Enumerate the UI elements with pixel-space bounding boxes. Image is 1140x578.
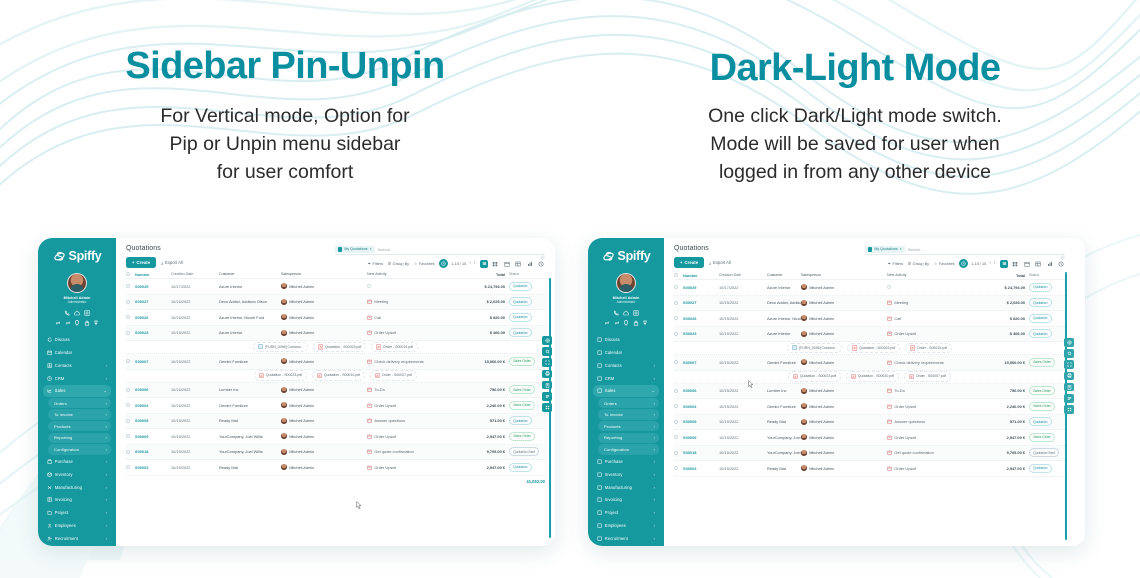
row-checkbox[interactable] [674,420,683,424]
panel-dark-light-mode: Dark-Light Mode One click Dark/Light mod… [570,0,1140,230]
grid-icon[interactable] [633,310,639,316]
inventory-icon [47,472,52,477]
sidebar-item-employees[interactable]: Employees› [43,520,111,532]
attachment-chip[interactable]: Order - S00019.pdf [371,342,418,353]
list-fab-icon[interactable] [542,392,552,401]
cell-number: S00004 [683,404,719,409]
select-all-checkbox[interactable] [126,272,135,276]
lock-icon[interactable] [633,320,639,326]
attachment-chip-label: [FURN_0096] Customi... [265,345,303,349]
checkbox-ring [674,466,678,470]
close-icon[interactable]: × [900,247,902,251]
sidebar-item-reporting[interactable]: Reporting› [48,433,111,443]
favorites-button[interactable]: ☆Favorites [934,261,955,266]
sidebar-item-invoicing[interactable]: Invoicing› [43,494,111,506]
list-view-icon[interactable] [1000,260,1008,268]
table-row-attachments[interactable]: Quotation - S00023.pdfQuotation - S00010… [674,371,1065,384]
grid-icon[interactable] [84,310,90,316]
upsell-icon [367,465,372,470]
kanban-view-icon[interactable] [491,260,499,268]
table-row[interactable]: S0000510/15/2022Ready MatMitchell AdminA… [126,414,545,430]
activity-view-icon[interactable] [537,260,545,268]
plus-icon: + [132,260,135,265]
column-header-salesperson[interactable]: Salesperson [281,272,367,276]
next-activity-label: Check delivery requirements [894,360,943,365]
checkbox-ring [674,332,678,336]
create-button[interactable]: + Create [126,257,156,268]
cell-creation-date: 10/15/2022 [171,387,219,392]
sidebar-item-reporting[interactable]: Reporting› [598,433,659,443]
sidebar-item-label: Discuss [605,337,655,342]
search-input[interactable]: Search... [908,247,924,252]
column-header-next-activity[interactable]: Next Activity [367,272,459,276]
cell-total: $ 24,794.00 [459,284,505,289]
pager-next-button[interactable]: › [994,261,996,266]
cell-creation-date: 10/17/2022 [719,285,767,290]
favorites-button[interactable]: ☆Favorites [414,261,435,266]
home-icon[interactable] [74,310,80,316]
spiffy-logo-icon [53,250,66,263]
attachment-chip-label: Quotation - S00023.pdf [266,373,302,377]
column-header-total[interactable]: Total [459,272,505,277]
table-row[interactable]: S0001810/15/2022YourCompany, Joel Willis… [126,445,545,461]
close-icon[interactable]: × [370,247,372,251]
graph-view-icon[interactable] [526,260,534,268]
table-row[interactable]: S0000610/15/2022Lumber IncMitchell Admin… [674,384,1065,400]
pin-icon[interactable] [642,320,648,326]
table-row[interactable]: S0002310/15/2022Azure InteriorMitchell A… [126,326,545,342]
checkbox-ring [126,272,130,276]
panel-sidebar-pin-unpin: Sidebar Pin-Unpin For Vertical mode, Opt… [0,0,570,230]
table-row[interactable]: S0002910/17/2022Azure InteriorMitchell A… [674,280,1065,296]
sidebar-item-products[interactable]: Products› [48,421,111,431]
row-checkbox[interactable] [674,435,683,439]
attachment-chip[interactable]: [FURN_0096] Customi... [253,342,308,353]
table-row[interactable]: S0000910/15/2022YourCompany, Joel Willis… [126,429,545,445]
grid-fab-icon[interactable] [542,403,552,412]
cell-next-activity: Check delivery requirements [367,359,459,364]
note-fab-icon[interactable] [542,381,552,390]
link-icon[interactable] [65,320,71,326]
row-checkbox[interactable] [126,465,135,469]
sidebar-item-crm[interactable]: CRM› [43,372,111,384]
search-facet-my-quotations[interactable]: My Quotations × [865,246,905,254]
cell-status: Quotation [1025,298,1065,307]
cell-next-activity: Order Upsell [367,465,459,470]
sidebar-item-products[interactable]: Products› [598,421,659,431]
row-checkbox[interactable] [674,404,683,408]
app-window: Spiffy Mitchell Admin Administrator [588,238,1085,546]
attachment-chip[interactable]: Quotation - S00023.pdf [847,343,900,354]
cell-customer: Lumber Inc [767,388,801,393]
app-window: Spiffy Mitchell Admin Administrator [38,238,555,546]
salesperson-name: Mitchell Admin [289,315,314,320]
salesperson-name: Mitchell Admin [809,331,834,336]
chevron-right-icon: › [106,447,107,452]
sidebar-item-to-invoice[interactable]: To Invoice› [48,409,111,419]
sidebar-item-orders[interactable]: Orders› [598,398,659,408]
sidebar-item-sales[interactable]: Sales⌄ [593,385,659,397]
sidebar-item-project[interactable]: Project› [43,507,111,519]
checkbox-ring [674,285,678,289]
avatar [67,273,87,293]
table-row[interactable]: S0000410/15/2022Gemini FurnitureMitchell… [674,399,1065,415]
search-facet-my-quotations[interactable]: My Quotations × [335,246,375,254]
table-row[interactable]: S0000710/15/2022Gemini FurnitureMitchell… [674,355,1065,371]
cell-salesperson: Mitchell Admin [801,450,887,456]
pin-icon[interactable] [93,320,99,326]
avatar [281,299,287,305]
attachment-chip[interactable]: Quotation - S00010.pdf [846,371,899,382]
location-icon[interactable] [74,320,80,326]
cell-next-activity: Meeting [367,299,459,304]
next-activity-label: To-Do [374,387,384,392]
expand-fab-icon[interactable] [542,358,552,367]
cell-customer: Azure Interior [219,330,281,335]
row-checkbox[interactable] [126,300,135,304]
cell-salesperson: Mitchell Admin [281,330,367,336]
calendar-view-icon[interactable] [503,260,511,268]
attachment-chip[interactable]: Order - S00007.pdf [904,371,951,382]
table-row[interactable]: S0002710/15/2022Deco Addict, Addison Ols… [126,295,545,311]
chevron-right-icon: › [654,523,655,528]
sidebar-item-purchase[interactable]: Purchase› [43,456,111,468]
attachment-chip[interactable]: Quotation - S00023.pdf [788,371,841,382]
sidebar-item-contacts[interactable]: Contacts› [593,360,659,372]
sidebar-item-inventory[interactable]: Inventory› [593,469,659,481]
avatar [801,450,807,456]
funnel-icon: ⏷ [368,261,371,266]
pdf-icon [793,374,798,379]
invoicing-icon [597,497,602,502]
sidebar-item-label: Configuration [604,447,654,452]
select-all-checkbox[interactable] [674,273,683,277]
cell-salesperson: Mitchell Admin [281,433,367,439]
export-all-button[interactable]: ⤓ Export All [709,260,731,265]
upsell-icon [367,330,372,335]
sidebar-item-inventory[interactable]: Inventory› [43,469,111,481]
column-header-creation-date[interactable]: Creation Date [719,273,767,277]
sidebar-item-crm[interactable]: CRM› [593,372,659,384]
groupby-icon: ☰ [388,261,392,266]
table-row[interactable]: S0002610/15/2022Azure Interior, Nicole F… [674,311,1065,327]
sidebar-item-project[interactable]: Project› [593,507,659,519]
row-checkbox[interactable] [126,388,135,392]
row-checkbox[interactable] [126,434,135,438]
activity-clock-button[interactable] [959,259,968,268]
panel-right-subcopy-line-3: logged in from any other device [570,158,1140,186]
kanban-view-icon[interactable] [1011,260,1019,268]
table-row[interactable]: S0000410/15/2022Gemini FurnitureMitchell… [126,398,545,414]
calendar-view-icon[interactable] [1023,260,1031,268]
pagination: 1-15 / 15 ‹ › [439,259,475,268]
attachment-chip-label: Quotation - S00023.pdf [859,346,895,350]
sidebar-item-discuss[interactable]: Discuss [43,334,111,346]
cell-salesperson: Mitchell Admin [281,314,367,320]
sidebar-item-recruitment[interactable]: Recruitment› [593,532,659,544]
sidebar-item-label: Sales [55,388,104,393]
row-checkbox[interactable] [126,450,135,454]
expand-fab-icon[interactable] [1064,360,1074,369]
upsell-icon [887,466,892,471]
search-fab-icon[interactable] [1064,349,1074,358]
avatar [801,403,807,409]
cell-status: Quotation [505,297,545,306]
sidebar-item-label: Configuration [54,447,106,452]
gear-icon[interactable] [1060,247,1065,252]
filters-button[interactable]: ⏷Filters [888,261,903,266]
invoicing-icon [47,497,52,502]
cell-status: Sales Order [1025,358,1065,367]
row-checkbox[interactable] [126,359,135,363]
cell-creation-date: 10/15/2022 [171,418,219,423]
row-checkbox[interactable] [674,285,683,289]
avatar [801,465,807,471]
table-row[interactable]: S0002710/15/2022Deco Addict, Addison Ols… [674,296,1065,312]
print-fab-icon[interactable] [542,370,552,379]
cell-salesperson: Mitchell Admin [801,388,887,394]
cell-creation-date: 10/15/2022 [171,449,219,454]
column-header-status[interactable]: Status [1025,273,1065,277]
sidebar-item-manufacturing[interactable]: Manufacturing› [43,481,111,493]
table-row[interactable]: S0000710/15/2022Gemini FurnitureMitchell… [126,354,545,370]
table-row-attachments[interactable]: [FURN_0096] Customi...Quotation - S00023… [126,341,545,354]
row-checkbox[interactable] [674,332,683,336]
cell-customer: Gemini Furniture [767,404,801,409]
salesperson-name: Mitchell Admin [809,404,834,409]
sidebar-item-apps[interactable]: Apps› [43,545,111,546]
cell-number: S00007 [135,359,171,364]
attachment-chip[interactable]: Quotation - S00023.pdf [254,370,307,381]
home-icon[interactable] [623,310,629,316]
sidebar-item-discuss[interactable]: Discuss [593,334,659,346]
search-fab-icon[interactable] [542,347,552,356]
cell-number: S00026 [683,316,719,321]
link-icon[interactable] [604,320,610,326]
link-icon[interactable] [55,320,61,326]
sidebar-item-label: Manufacturing [605,485,654,490]
salesperson-name: Mitchell Admin [809,419,834,424]
cell-next-activity: Get quote confirmation [887,450,979,455]
row-checkbox[interactable] [674,466,683,470]
cell-total: 2,947.00 € [979,435,1025,440]
status-badge: Quotation [509,297,532,306]
avatar [281,433,287,439]
attachment-chip[interactable]: Quotation - S00010.pdf [312,370,365,381]
sidebar-item-purchase[interactable]: Purchase› [593,456,659,468]
upload-icon: ⤓ [709,260,711,265]
cell-status: Quotation [1025,464,1065,473]
sidebar-item-invoicing[interactable]: Invoicing› [593,494,659,506]
user-block[interactable]: Mitchell Admin Administrator [43,273,111,304]
filters-button[interactable]: ⏷Filters [368,261,383,266]
location-icon[interactable] [623,320,629,326]
sidebar-item-to-invoice[interactable]: To Invoice› [598,409,659,419]
sidebar-item-sales[interactable]: Sales⌄ [43,385,111,397]
cell-creation-date: 10/15/2022 [171,315,219,320]
row-checkbox[interactable] [674,360,683,364]
brand-logo[interactable]: Spiffy [43,245,111,267]
column-header-customer[interactable]: Customer [219,272,281,276]
pager-prev-button[interactable]: ‹ [469,261,471,266]
activity-view-icon[interactable] [1057,260,1065,268]
pivot-view-icon[interactable] [514,260,522,268]
row-checkbox[interactable] [674,301,683,305]
cell-creation-date: 10/15/2022 [171,330,219,335]
column-header-next-activity[interactable]: Next Activity [887,273,979,277]
row-checkbox[interactable] [126,331,135,335]
row-checkbox[interactable] [126,419,135,423]
column-header-total[interactable]: Total [979,273,1025,278]
attachment-chip[interactable]: [FURN_0096] Customi... [787,343,842,354]
table-row[interactable]: S0000310/15/2022Ready MatMitchell AdminO… [674,461,1065,477]
sidebar-item-contacts[interactable]: Contacts› [43,360,111,372]
employees-icon [597,523,602,528]
avatar [616,273,636,293]
cell-salesperson: Mitchell Admin [801,403,887,409]
pivot-view-icon[interactable] [1034,260,1042,268]
group-by-button[interactable]: ☰Group By [388,261,410,266]
attachment-chip[interactable]: Order - S00007.pdf [370,370,417,381]
settings-fab-icon[interactable] [1064,338,1074,347]
group-by-button[interactable]: ☰Group By [908,261,930,266]
cell-customer: Ready Mat [219,418,281,423]
cell-number: S00023 [135,330,171,335]
salesperson-name: Mitchell Admin [289,330,314,335]
activity-clock-button[interactable] [439,259,448,268]
column-header-status[interactable]: Status [505,272,545,276]
cell-number: S00009 [683,435,719,440]
list-view-icon[interactable] [480,260,488,268]
cell-creation-date: 10/15/2022 [719,388,767,393]
cell-status: Quotation Sent [1025,448,1065,457]
sidebar-item-calendar[interactable]: Calendar [43,347,111,359]
search-input[interactable]: Search... [378,247,394,252]
table-row[interactable]: S0001810/15/2022YourCompany, Joel Willis… [674,446,1065,462]
phone-icon[interactable] [613,310,619,316]
column-header-number[interactable]: Number [135,272,171,277]
next-activity-label: Order Upsell [374,434,396,439]
table-row[interactable]: S0000310/15/2022Ready MatMitchell AdminO… [126,460,545,476]
column-header-creation-date[interactable]: Creation Date [171,272,219,276]
salesperson-name: Mitchell Admin [809,316,834,321]
table-row[interactable]: S0000610/15/2022Lumber IncMitchell Admin… [126,383,545,399]
sidebar-item-recruitment[interactable]: Recruitment› [43,532,111,544]
manufacturing-icon [597,485,602,490]
status-badge: Sales Order [509,385,535,394]
avatar [281,330,287,336]
table-row[interactable]: S0002610/15/2022Azure Interior, Nicole F… [126,310,545,326]
cell-status: Sales Order [505,357,545,366]
settings-fab-icon[interactable] [542,336,552,345]
grid-fab-icon[interactable] [1064,405,1074,414]
row-checkbox[interactable] [674,316,683,320]
attachment-chip-row: Quotation - S00023.pdfQuotation - S00010… [788,371,951,382]
table-row-attachments[interactable]: [FURN_0096] Customi...Quotation - S00023… [674,342,1065,355]
view-switcher [1000,260,1065,268]
print-fab-icon[interactable] [1064,372,1074,381]
status-badge: Sales Order [1029,386,1055,395]
cell-creation-date: 10/15/2022 [171,359,219,364]
checkbox-ring [126,388,130,392]
table-row-attachments[interactable]: Quotation - S00023.pdfQuotation - S00010… [126,370,545,383]
status-badge: Quotation [1029,417,1052,426]
attachment-chip[interactable]: Quotation - S00023.pdf [313,342,366,353]
sidebar-item-label: Calendar [605,350,655,355]
gear-icon[interactable] [540,247,545,252]
create-button[interactable]: + Create [674,257,704,268]
chevron-right-icon: › [654,376,655,381]
column-header-customer[interactable]: Customer [767,273,801,277]
panel-left-subcopy-line-1: For Vertical mode, Option for [0,102,570,130]
answer-icon [887,419,892,424]
export-all-button[interactable]: ⤓ Export All [161,260,183,265]
column-header-number[interactable]: Number [683,273,719,278]
row-checkbox[interactable] [674,451,683,455]
sidebar-item-manufacturing[interactable]: Manufacturing› [593,481,659,493]
row-checkbox[interactable] [126,284,135,288]
table-row[interactable]: S0002310/15/2022Azure InteriorMitchell A… [674,327,1065,343]
panel-right-headline: Dark-Light Mode [570,48,1140,90]
note-fab-icon[interactable] [1064,383,1074,392]
cell-next-activity: Order Upsell [367,330,459,335]
attachment-chip[interactable]: Order - S00019.pdf [905,343,952,354]
sidebar-item-apps[interactable]: Apps› [593,545,659,546]
search-bar[interactable]: My Quotations × Search... [865,245,1065,255]
sidebar-item-employees[interactable]: Employees› [593,520,659,532]
avatar [801,315,807,321]
search-bar[interactable]: My Quotations × Search... [335,245,545,255]
avatar [281,449,287,455]
user-block[interactable]: Mitchell Admin Administrator [593,273,659,304]
checkbox-ring [126,300,130,304]
brand-logo[interactable]: Spiffy [593,245,659,267]
graph-view-icon[interactable] [1046,260,1054,268]
row-checkbox[interactable] [126,315,135,319]
cell-number: S00003 [135,465,171,470]
table-row[interactable]: S0000510/15/2022Ready MatMitchell AdminA… [674,415,1065,431]
sidebar-item-configuration[interactable]: Configuration› [598,444,659,454]
cell-next-activity: Order Upsell [887,404,979,409]
avatar [281,387,287,393]
filter-icon [868,247,872,251]
table-row[interactable]: S0000910/15/2022YourCompany, Joel Willis… [674,430,1065,446]
cell-next-activity: Answer questions [887,419,979,424]
sidebar-item-calendar[interactable]: Calendar [593,347,659,359]
app-screenshot-right: Spiffy Mitchell Admin Administrator [588,238,1085,546]
star-icon: ☆ [414,261,418,266]
table-row[interactable]: S0002910/17/2022Azure InteriorMitchell A… [126,279,545,295]
pager-next-button[interactable]: › [474,261,476,266]
status-badge: Quotation [509,313,532,322]
image-icon [792,345,797,350]
link-icon[interactable] [614,320,620,326]
phone-icon[interactable] [64,310,70,316]
column-header-salesperson[interactable]: Salesperson [801,273,887,277]
next-activity-label: Call [374,315,381,320]
cell-next-activity: Order Upsell [367,434,459,439]
row-checkbox[interactable] [126,403,135,407]
sidebar-item-configuration[interactable]: Configuration› [48,444,111,454]
list-fab-icon[interactable] [1064,394,1074,403]
lock-icon[interactable] [84,320,90,326]
pager-prev-button[interactable]: ‹ [989,261,991,266]
row-checkbox[interactable] [674,389,683,393]
cell-salesperson: Mitchell Admin [801,300,887,306]
panel-left-subcopy-line-2: Pip or Unpin menu sidebar [0,130,570,158]
sidebar-item-orders[interactable]: Orders› [48,398,111,408]
cell-status: Quotation [505,282,545,291]
